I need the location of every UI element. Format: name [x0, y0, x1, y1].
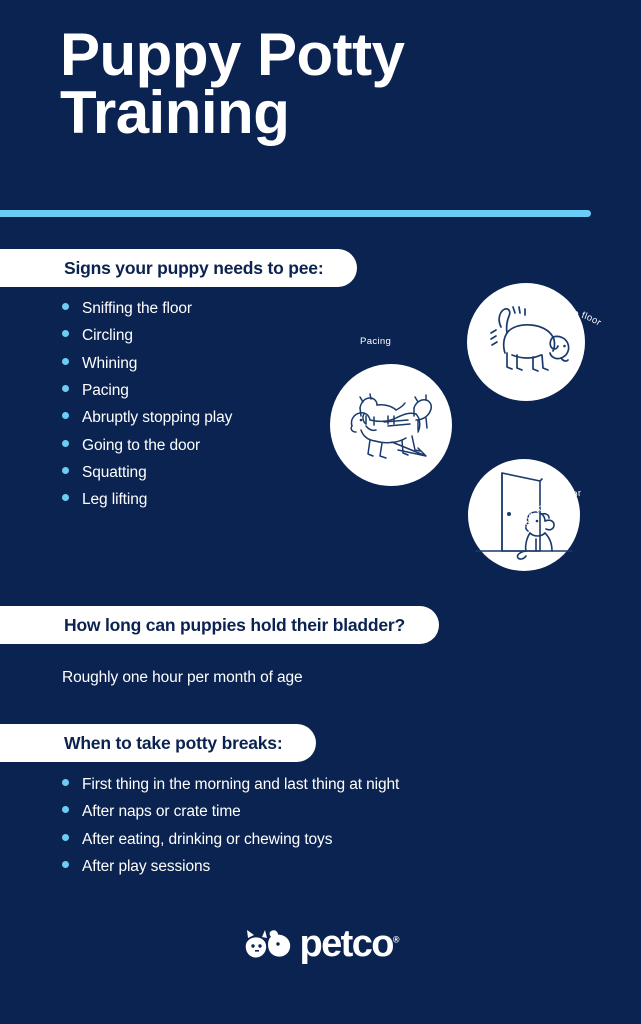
bladder-note: Roughly one hour per month of age	[62, 669, 303, 687]
section-heading-breaks-label: When to take potty breaks:	[64, 733, 282, 754]
bullet-dot-icon	[62, 779, 69, 786]
breaks-bullet-list: First thing in the morning and last thin…	[62, 776, 399, 885]
list-item-label: After play sessions	[82, 858, 210, 876]
petco-cat-dog-mark-icon	[242, 925, 294, 963]
list-item: After play sessions	[62, 858, 399, 876]
list-item-label: Squatting	[82, 464, 147, 482]
list-item: Pacing	[62, 382, 232, 400]
list-item: After naps or crate time	[62, 803, 399, 821]
section-heading-bladder-label: How long can puppies hold their bladder?	[64, 615, 405, 636]
bullet-dot-icon	[62, 330, 69, 337]
illustration-label: Going to the door	[512, 487, 582, 538]
bullet-dot-icon	[62, 440, 69, 447]
illustration-label: Pacing	[360, 336, 391, 347]
bullet-dot-icon	[62, 834, 69, 841]
list-item: Squatting	[62, 464, 232, 482]
bullet-dot-icon	[62, 806, 69, 813]
list-item-label: Abruptly stopping play	[82, 409, 232, 427]
illustration-label: Sniffing the floor	[526, 306, 604, 328]
list-item: After eating, drinking or chewing toys	[62, 831, 399, 849]
accent-divider	[0, 210, 591, 217]
bullet-dot-icon	[62, 467, 69, 474]
petco-logo: petco®	[0, 925, 641, 963]
list-item-label: Circling	[82, 327, 133, 345]
illustration-label-arc: Going to the door	[468, 459, 641, 649]
signs-bullet-list: Sniffing the floor Circling Whining Paci…	[62, 300, 232, 519]
list-item: First thing in the morning and last thin…	[62, 776, 399, 794]
list-item: Abruptly stopping play	[62, 409, 232, 427]
list-item-label: After naps or crate time	[82, 803, 241, 821]
bullet-dot-icon	[62, 358, 69, 365]
list-item: Going to the door	[62, 437, 232, 455]
list-item: Leg lifting	[62, 491, 232, 509]
list-item-label: First thing in the morning and last thin…	[82, 776, 399, 794]
list-item: Whining	[62, 355, 232, 373]
illustration-going-to-the-door: Going to the door	[468, 459, 582, 573]
list-item: Circling	[62, 327, 232, 345]
illustration-sniffing-the-floor: Sniffing the floor	[467, 283, 587, 403]
bullet-dot-icon	[62, 303, 69, 310]
list-item-label: Sniffing the floor	[82, 300, 192, 318]
illustration-pacing: Pacing	[330, 364, 454, 488]
section-heading-bladder: How long can puppies hold their bladder?	[0, 606, 439, 644]
bullet-dot-icon	[62, 412, 69, 419]
page-title: Puppy Potty Training	[60, 26, 530, 142]
section-heading-signs-label: Signs your puppy needs to pee:	[64, 258, 323, 279]
list-item: Sniffing the floor	[62, 300, 232, 318]
trademark-symbol: ®	[393, 934, 400, 944]
bullet-dot-icon	[62, 861, 69, 868]
bullet-dot-icon	[62, 385, 69, 392]
list-item-label: Going to the door	[82, 437, 200, 455]
illustration-label-arc: Sniffing the floor	[467, 283, 641, 463]
section-heading-signs: Signs your puppy needs to pee:	[0, 249, 357, 287]
list-item-label: Whining	[82, 355, 137, 373]
petco-wordmark: petco®	[300, 925, 400, 963]
infographic-page: Puppy Potty Training Signs your puppy ne…	[0, 0, 641, 1024]
section-heading-breaks: When to take potty breaks:	[0, 724, 316, 762]
list-item-label: After eating, drinking or chewing toys	[82, 831, 332, 849]
list-item-label: Leg lifting	[82, 491, 147, 509]
bullet-dot-icon	[62, 494, 69, 501]
list-item-label: Pacing	[82, 382, 129, 400]
dogs-pacing-icon	[330, 364, 452, 486]
